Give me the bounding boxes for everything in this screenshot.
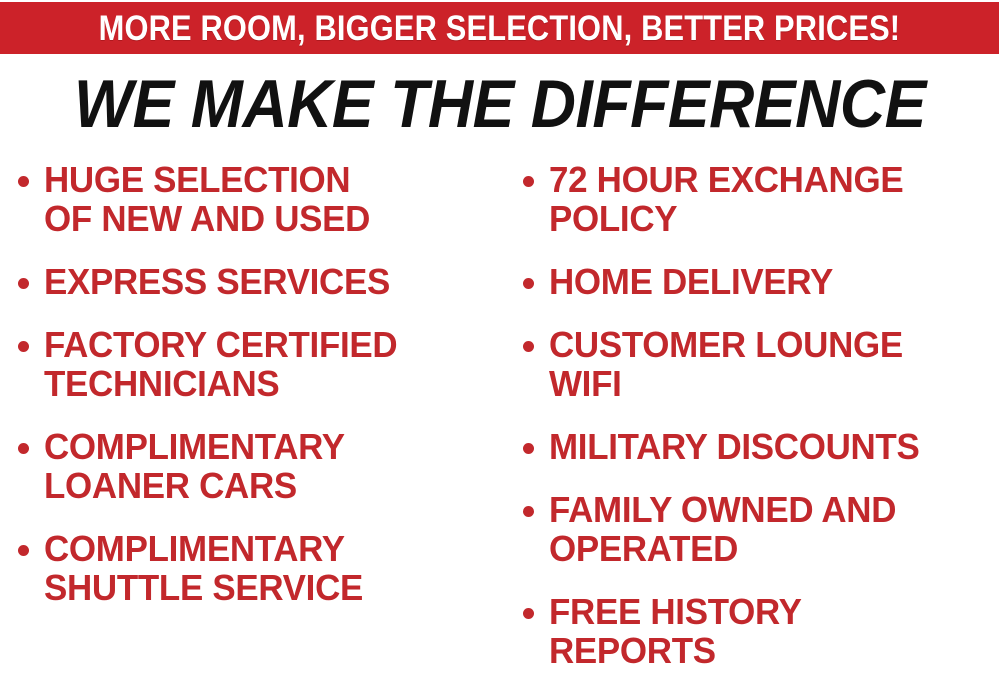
- list-item: FACTORY CERTIFIED TECHNICIANS: [18, 325, 505, 403]
- promotional-poster: MORE ROOM, BIGGER SELECTION, BETTER PRIC…: [0, 0, 999, 692]
- list-item-label: HUGE SELECTION OF NEW AND USED: [44, 160, 491, 238]
- bullet-dot-icon: [523, 608, 534, 619]
- benefits-column-left: HUGE SELECTION OF NEW AND USED EXPRESS S…: [0, 160, 505, 607]
- list-item-label: FACTORY CERTIFIED TECHNICIANS: [44, 325, 491, 403]
- list-item: HUGE SELECTION OF NEW AND USED: [18, 160, 505, 238]
- list-item-label: 72 HOUR EXCHANGE POLICY: [549, 160, 986, 238]
- list-item: HOME DELIVERY: [523, 262, 999, 301]
- bullet-dot-icon: [18, 443, 29, 454]
- list-item: FREE HISTORY REPORTS: [523, 592, 999, 670]
- list-item-label: COMPLIMENTARY SHUTTLE SERVICE: [44, 529, 491, 607]
- bullet-dot-icon: [523, 278, 534, 289]
- bullet-dot-icon: [523, 176, 534, 187]
- list-item-label: EXPRESS SERVICES: [44, 262, 491, 301]
- list-item: CUSTOMER LOUNGE WIFI: [523, 325, 999, 403]
- list-item: FAMILY OWNED AND OPERATED: [523, 490, 999, 568]
- bullet-dot-icon: [523, 443, 534, 454]
- list-item-label: FAMILY OWNED AND OPERATED: [549, 490, 986, 568]
- list-item: 72 HOUR EXCHANGE POLICY: [523, 160, 999, 238]
- bullet-dot-icon: [18, 176, 29, 187]
- list-item-label: FREE HISTORY REPORTS: [549, 592, 986, 670]
- list-item-label: HOME DELIVERY: [549, 262, 986, 301]
- list-item: EXPRESS SERVICES: [18, 262, 505, 301]
- benefits-columns: HUGE SELECTION OF NEW AND USED EXPRESS S…: [0, 160, 999, 670]
- bullet-dot-icon: [523, 341, 534, 352]
- list-item-label: MILITARY DISCOUNTS: [549, 427, 986, 466]
- top-promo-banner: MORE ROOM, BIGGER SELECTION, BETTER PRIC…: [0, 2, 999, 54]
- list-item: COMPLIMENTARY SHUTTLE SERVICE: [18, 529, 505, 607]
- list-item-label: COMPLIMENTARY LOANER CARS: [44, 427, 491, 505]
- list-item: COMPLIMENTARY LOANER CARS: [18, 427, 505, 505]
- bullet-dot-icon: [523, 506, 534, 517]
- bullet-dot-icon: [18, 278, 29, 289]
- main-headline-container: WE MAKE THE DIFFERENCE: [0, 66, 999, 142]
- list-item-label: CUSTOMER LOUNGE WIFI: [549, 325, 986, 403]
- list-item: MILITARY DISCOUNTS: [523, 427, 999, 466]
- banner-headline-text: MORE ROOM, BIGGER SELECTION, BETTER PRIC…: [99, 11, 901, 46]
- benefits-column-right: 72 HOUR EXCHANGE POLICY HOME DELIVERY CU…: [505, 160, 999, 670]
- page-title: WE MAKE THE DIFFERENCE: [74, 70, 926, 138]
- bullet-dot-icon: [18, 341, 29, 352]
- bullet-dot-icon: [18, 545, 29, 556]
